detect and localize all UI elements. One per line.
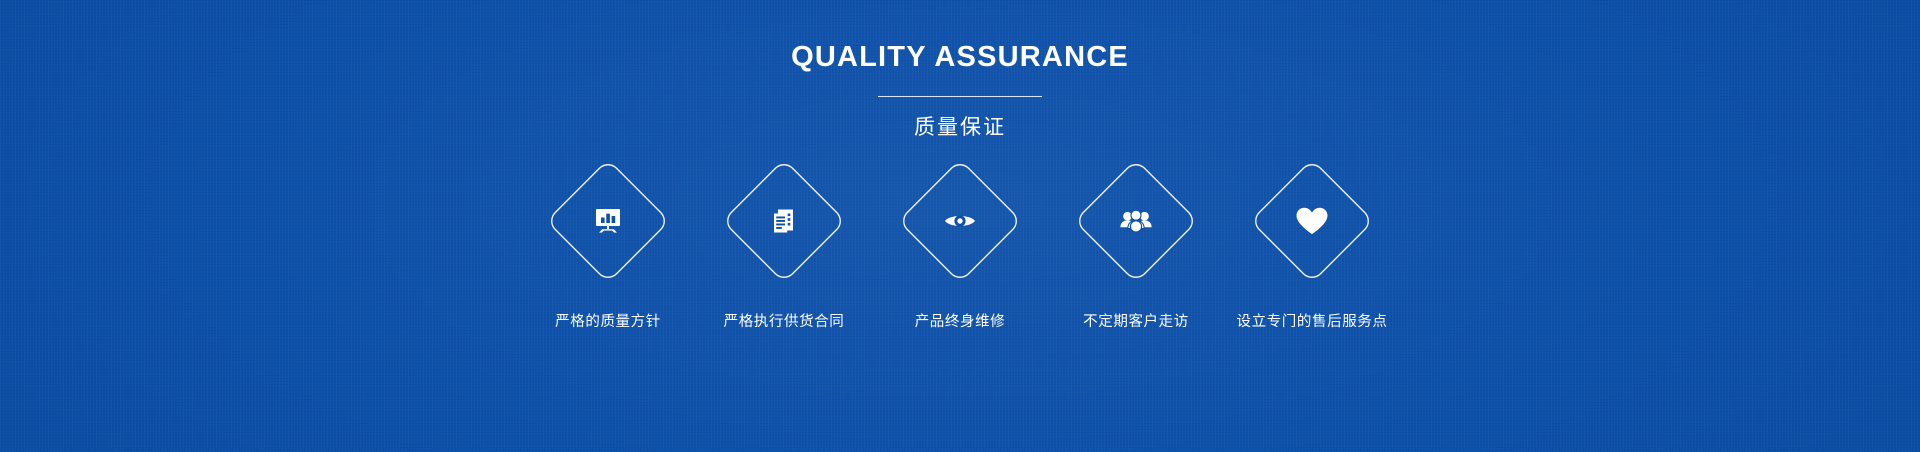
diamond-frame [1077, 162, 1195, 280]
feature-label: 设立专门的售后服务点 [1237, 310, 1388, 331]
feature-label: 严格的质量方针 [555, 310, 661, 331]
diamond-frame [901, 162, 1019, 280]
user-group-icon [1116, 201, 1156, 241]
page-subtitle: 质量保证 [0, 111, 1920, 141]
feature-label: 产品终身维修 [915, 310, 1006, 331]
diamond-frame [549, 162, 667, 280]
feature-label: 不定期客户走访 [1083, 310, 1189, 331]
feature-item-lifetime-maintenance[interactable]: 产品终身维修 [872, 162, 1048, 331]
feature-item-supply-contract[interactable]: 严格执行供货合同 [696, 162, 872, 331]
diamond-frame [1253, 162, 1371, 280]
page-title: QUALITY ASSURANCE [0, 42, 1920, 74]
quality-assurance-banner: QUALITY ASSURANCE 质量保证 [0, 0, 1920, 452]
feature-list: 严格的质量方针 [0, 162, 1920, 331]
heart-icon [1292, 201, 1332, 241]
banner-header: QUALITY ASSURANCE 质量保证 [0, 0, 1920, 141]
feature-item-quality-policy[interactable]: 严格的质量方针 [520, 162, 696, 331]
presentation-chart-icon [588, 201, 628, 241]
feature-item-after-sales-service[interactable]: 设立专门的售后服务点 [1224, 162, 1400, 331]
banner-content: QUALITY ASSURANCE 质量保证 [0, 0, 1920, 452]
feature-label: 严格执行供货合同 [724, 310, 845, 331]
title-divider [878, 96, 1042, 97]
feature-item-customer-visits[interactable]: 不定期客户走访 [1048, 162, 1224, 331]
eye-icon [940, 201, 980, 241]
diamond-frame [725, 162, 843, 280]
contract-document-icon [764, 201, 804, 241]
